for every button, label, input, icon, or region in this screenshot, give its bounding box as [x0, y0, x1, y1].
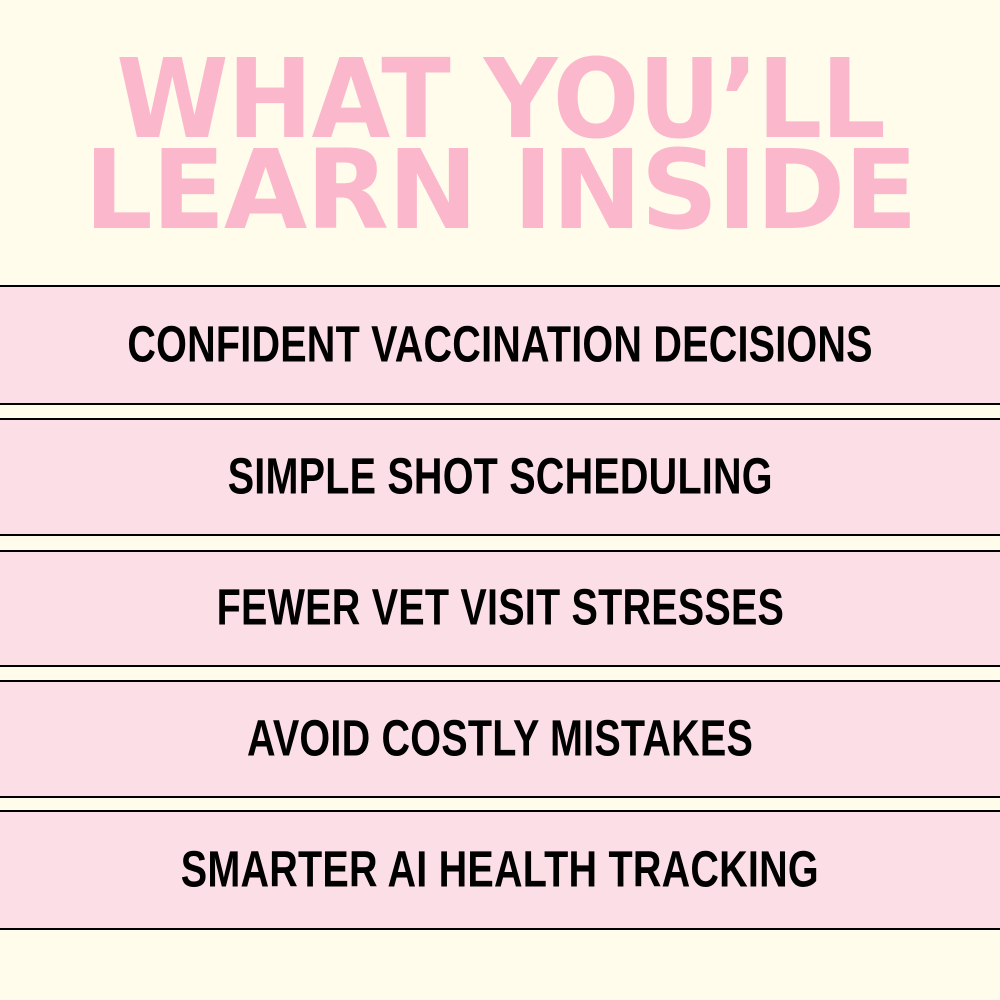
- page-title: WHAT YOU’LL LEARN INSIDE: [0, 0, 1000, 285]
- list-divider-gap: [0, 405, 1000, 418]
- page-title-line-2: LEARN INSIDE: [84, 147, 916, 235]
- list-item-label: FEWER VET VISIT STRESSES: [216, 583, 783, 634]
- list-divider-gap: [0, 798, 1000, 810]
- list-item-simple-shot-scheduling[interactable]: SIMPLE SHOT SCHEDULING: [0, 418, 1000, 536]
- list-item-label: AVOID COSTLY MISTAKES: [247, 714, 753, 765]
- list-divider-gap: [0, 536, 1000, 550]
- list-item-label: CONFIDENT VACCINATION DECISIONS: [127, 320, 872, 371]
- list-item-smarter-ai-health-tracking[interactable]: SMARTER AI HEALTH TRACKING: [0, 810, 1000, 930]
- list-item-confident-vaccination-decisions[interactable]: CONFIDENT VACCINATION DECISIONS: [0, 285, 1000, 405]
- list-divider-gap: [0, 667, 1000, 680]
- poster-canvas: WHAT YOU’LL LEARN INSIDE CONFIDENT VACCI…: [0, 0, 1000, 1000]
- list-item-label: SMARTER AI HEALTH TRACKING: [181, 845, 819, 896]
- list-item-avoid-costly-mistakes[interactable]: AVOID COSTLY MISTAKES: [0, 680, 1000, 798]
- benefits-list: CONFIDENT VACCINATION DECISIONS SIMPLE S…: [0, 285, 1000, 930]
- list-item-fewer-vet-visit-stresses[interactable]: FEWER VET VISIT STRESSES: [0, 550, 1000, 667]
- list-item-label: SIMPLE SHOT SCHEDULING: [227, 452, 772, 503]
